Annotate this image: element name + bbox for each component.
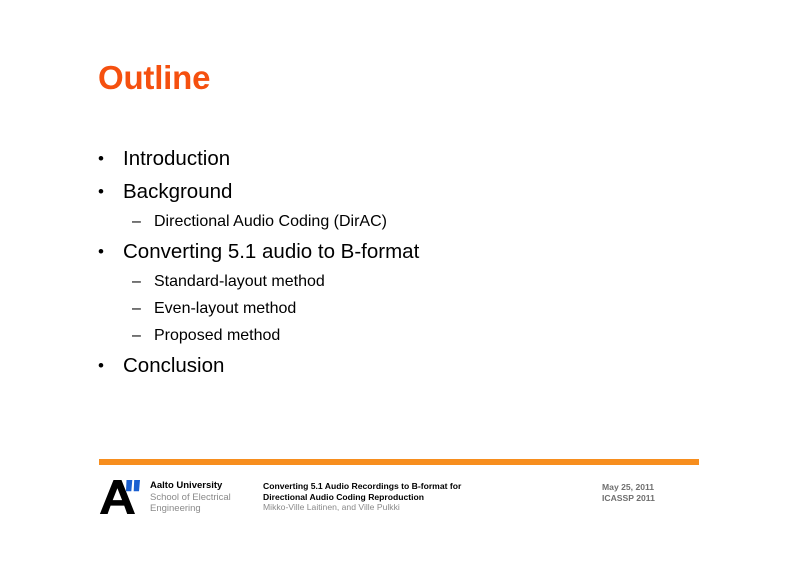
outline-item-label: Conclusion (123, 350, 224, 381)
outline-item-introduction: • Introduction (98, 143, 698, 174)
bullet-icon: • (98, 350, 123, 381)
footer-divider (99, 459, 699, 465)
outline-subitem-label: Directional Audio Coding (DirAC) (154, 209, 387, 235)
paper-authors: Mikko-Ville Laitinen, and Ville Pulkki (263, 502, 461, 514)
footer-meta-info: May 25, 2011 ICASSP 2011 (602, 482, 655, 503)
outline-subitem-standard-layout: – Standard-layout method (98, 269, 698, 295)
slide-title: Outline (98, 60, 210, 96)
presentation-date: May 25, 2011 (602, 482, 655, 493)
presentation-slide: Outline • Introduction • Background – Di… (0, 0, 800, 565)
bullet-icon: • (98, 143, 123, 174)
bullet-icon: • (98, 176, 123, 207)
organization-unit-line1: School of Electrical (150, 492, 231, 504)
outline-item-label: Converting 5.1 audio to B-format (123, 236, 419, 267)
outline-subitem-even-layout: – Even-layout method (98, 296, 698, 322)
paper-title-line1: Converting 5.1 Audio Recordings to B-for… (263, 481, 461, 492)
dash-icon: – (132, 269, 154, 295)
bullet-icon: • (98, 236, 123, 267)
dash-icon: – (132, 323, 154, 349)
dash-icon: – (132, 296, 154, 322)
aalto-a-logo-icon (99, 478, 141, 516)
outline-item-conclusion: • Conclusion (98, 350, 698, 381)
outline-item-background: • Background (98, 176, 698, 207)
organization-name: Aalto University (150, 480, 231, 492)
outline-subitem-proposed: – Proposed method (98, 323, 698, 349)
conference-name: ICASSP 2011 (602, 493, 655, 504)
outline-item-converting: • Converting 5.1 audio to B-format (98, 236, 698, 267)
outline-subitem-label: Standard-layout method (154, 269, 325, 295)
organization-unit-line2: Engineering (150, 503, 231, 515)
slide-footer: Aalto University School of Electrical En… (0, 478, 800, 523)
outline-item-label: Introduction (123, 143, 230, 174)
outline-subitem-dirac: – Directional Audio Coding (DirAC) (98, 209, 698, 235)
footer-paper-info: Converting 5.1 Audio Recordings to B-for… (263, 481, 461, 514)
footer-branding: Aalto University School of Electrical En… (99, 478, 231, 516)
outline-subitem-label: Proposed method (154, 323, 280, 349)
outline-item-label: Background (123, 176, 232, 207)
paper-title-line2: Directional Audio Coding Reproduction (263, 492, 461, 503)
brand-text-block: Aalto University School of Electrical En… (150, 478, 231, 515)
dash-icon: – (132, 209, 154, 235)
outline-list: • Introduction • Background – Directiona… (98, 143, 698, 383)
outline-subitem-label: Even-layout method (154, 296, 296, 322)
